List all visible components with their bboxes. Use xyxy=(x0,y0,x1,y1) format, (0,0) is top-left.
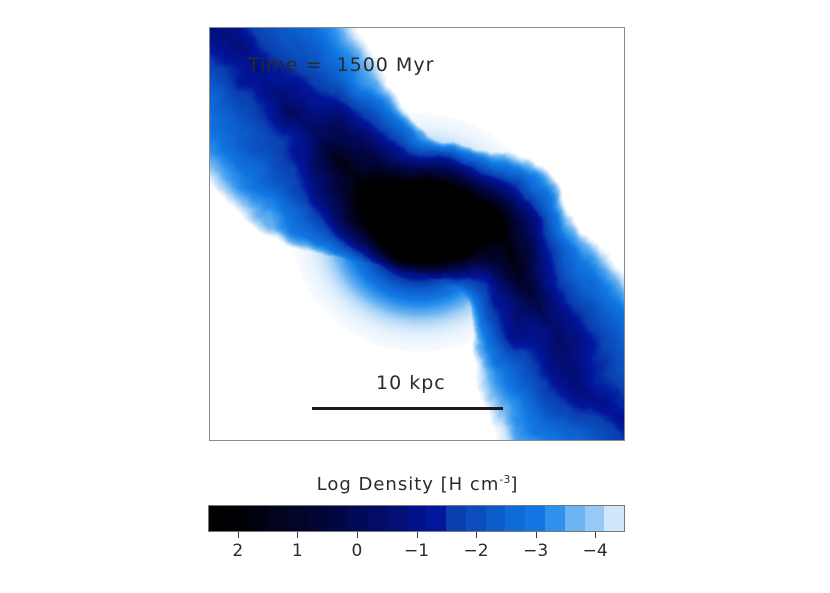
colorbar-tick-label-1: 1 xyxy=(292,541,303,561)
colorbar-tick-label-0: 2 xyxy=(232,541,243,561)
scalebar-line xyxy=(312,407,503,410)
colorbar-tick-label-3: −1 xyxy=(404,541,429,561)
time-annotation: Time = 1500 Myr xyxy=(248,54,434,76)
colorbar-swatch-16 xyxy=(525,506,545,531)
density-map-figure: Time = 1500 Myr 10 kpc Log Density [H cm… xyxy=(0,0,830,593)
colorbar-swatch-2 xyxy=(249,506,269,531)
colorbar-swatch-7 xyxy=(347,506,367,531)
colorbar-swatch-6 xyxy=(328,506,348,531)
colorbar-title-prefix: Log Density [H cm xyxy=(317,474,500,495)
colorbar-swatch-11 xyxy=(426,506,446,531)
colorbar-tick-1 xyxy=(297,532,298,538)
colorbar-swatch-12 xyxy=(446,506,466,531)
colorbar-swatch-1 xyxy=(229,506,249,531)
colorbar-tick-5 xyxy=(536,532,537,538)
colorbar-tick-labels: 210−1−2−3−4 xyxy=(208,541,625,563)
scalebar-label: 10 kpc xyxy=(376,372,446,394)
colorbar-tick-label-5: −3 xyxy=(523,541,548,561)
colorbar-swatch-15 xyxy=(505,506,525,531)
colorbar-title-suffix: ] xyxy=(510,474,518,495)
colorbar-title: Log Density [H cm-3] xyxy=(209,473,626,495)
colorbar-swatch-10 xyxy=(407,506,427,531)
colorbar-swatch-8 xyxy=(367,506,387,531)
colorbar-tick-4 xyxy=(476,532,477,538)
colorbar-swatch-9 xyxy=(387,506,407,531)
colorbar-swatch-14 xyxy=(486,506,506,531)
simulation-image-panel: Time = 1500 Myr 10 kpc xyxy=(209,27,625,441)
colorbar-swatch-3 xyxy=(268,506,288,531)
colorbar-tick-label-2: 0 xyxy=(352,541,363,561)
colorbar-tick-3 xyxy=(417,532,418,538)
colorbar-swatch-17 xyxy=(545,506,565,531)
colorbar-tick-marks xyxy=(208,532,625,539)
colorbar-swatch-20 xyxy=(604,506,624,531)
colorbar-swatch-0 xyxy=(209,506,229,531)
colorbar-tick-label-4: −2 xyxy=(464,541,489,561)
colorbar-swatch-5 xyxy=(308,506,328,531)
colorbar-swatch-13 xyxy=(466,506,486,531)
colorbar-swatch-4 xyxy=(288,506,308,531)
colorbar-title-exponent: -3 xyxy=(499,473,510,486)
colorbar-swatch-19 xyxy=(585,506,605,531)
colorbar-tick-0 xyxy=(238,532,239,538)
colorbar-tick-6 xyxy=(595,532,596,538)
colorbar-swatch-18 xyxy=(565,506,585,531)
colorbar-tick-label-6: −4 xyxy=(583,541,608,561)
colorbar-tick-2 xyxy=(357,532,358,538)
colorbar-gradient xyxy=(208,505,625,532)
